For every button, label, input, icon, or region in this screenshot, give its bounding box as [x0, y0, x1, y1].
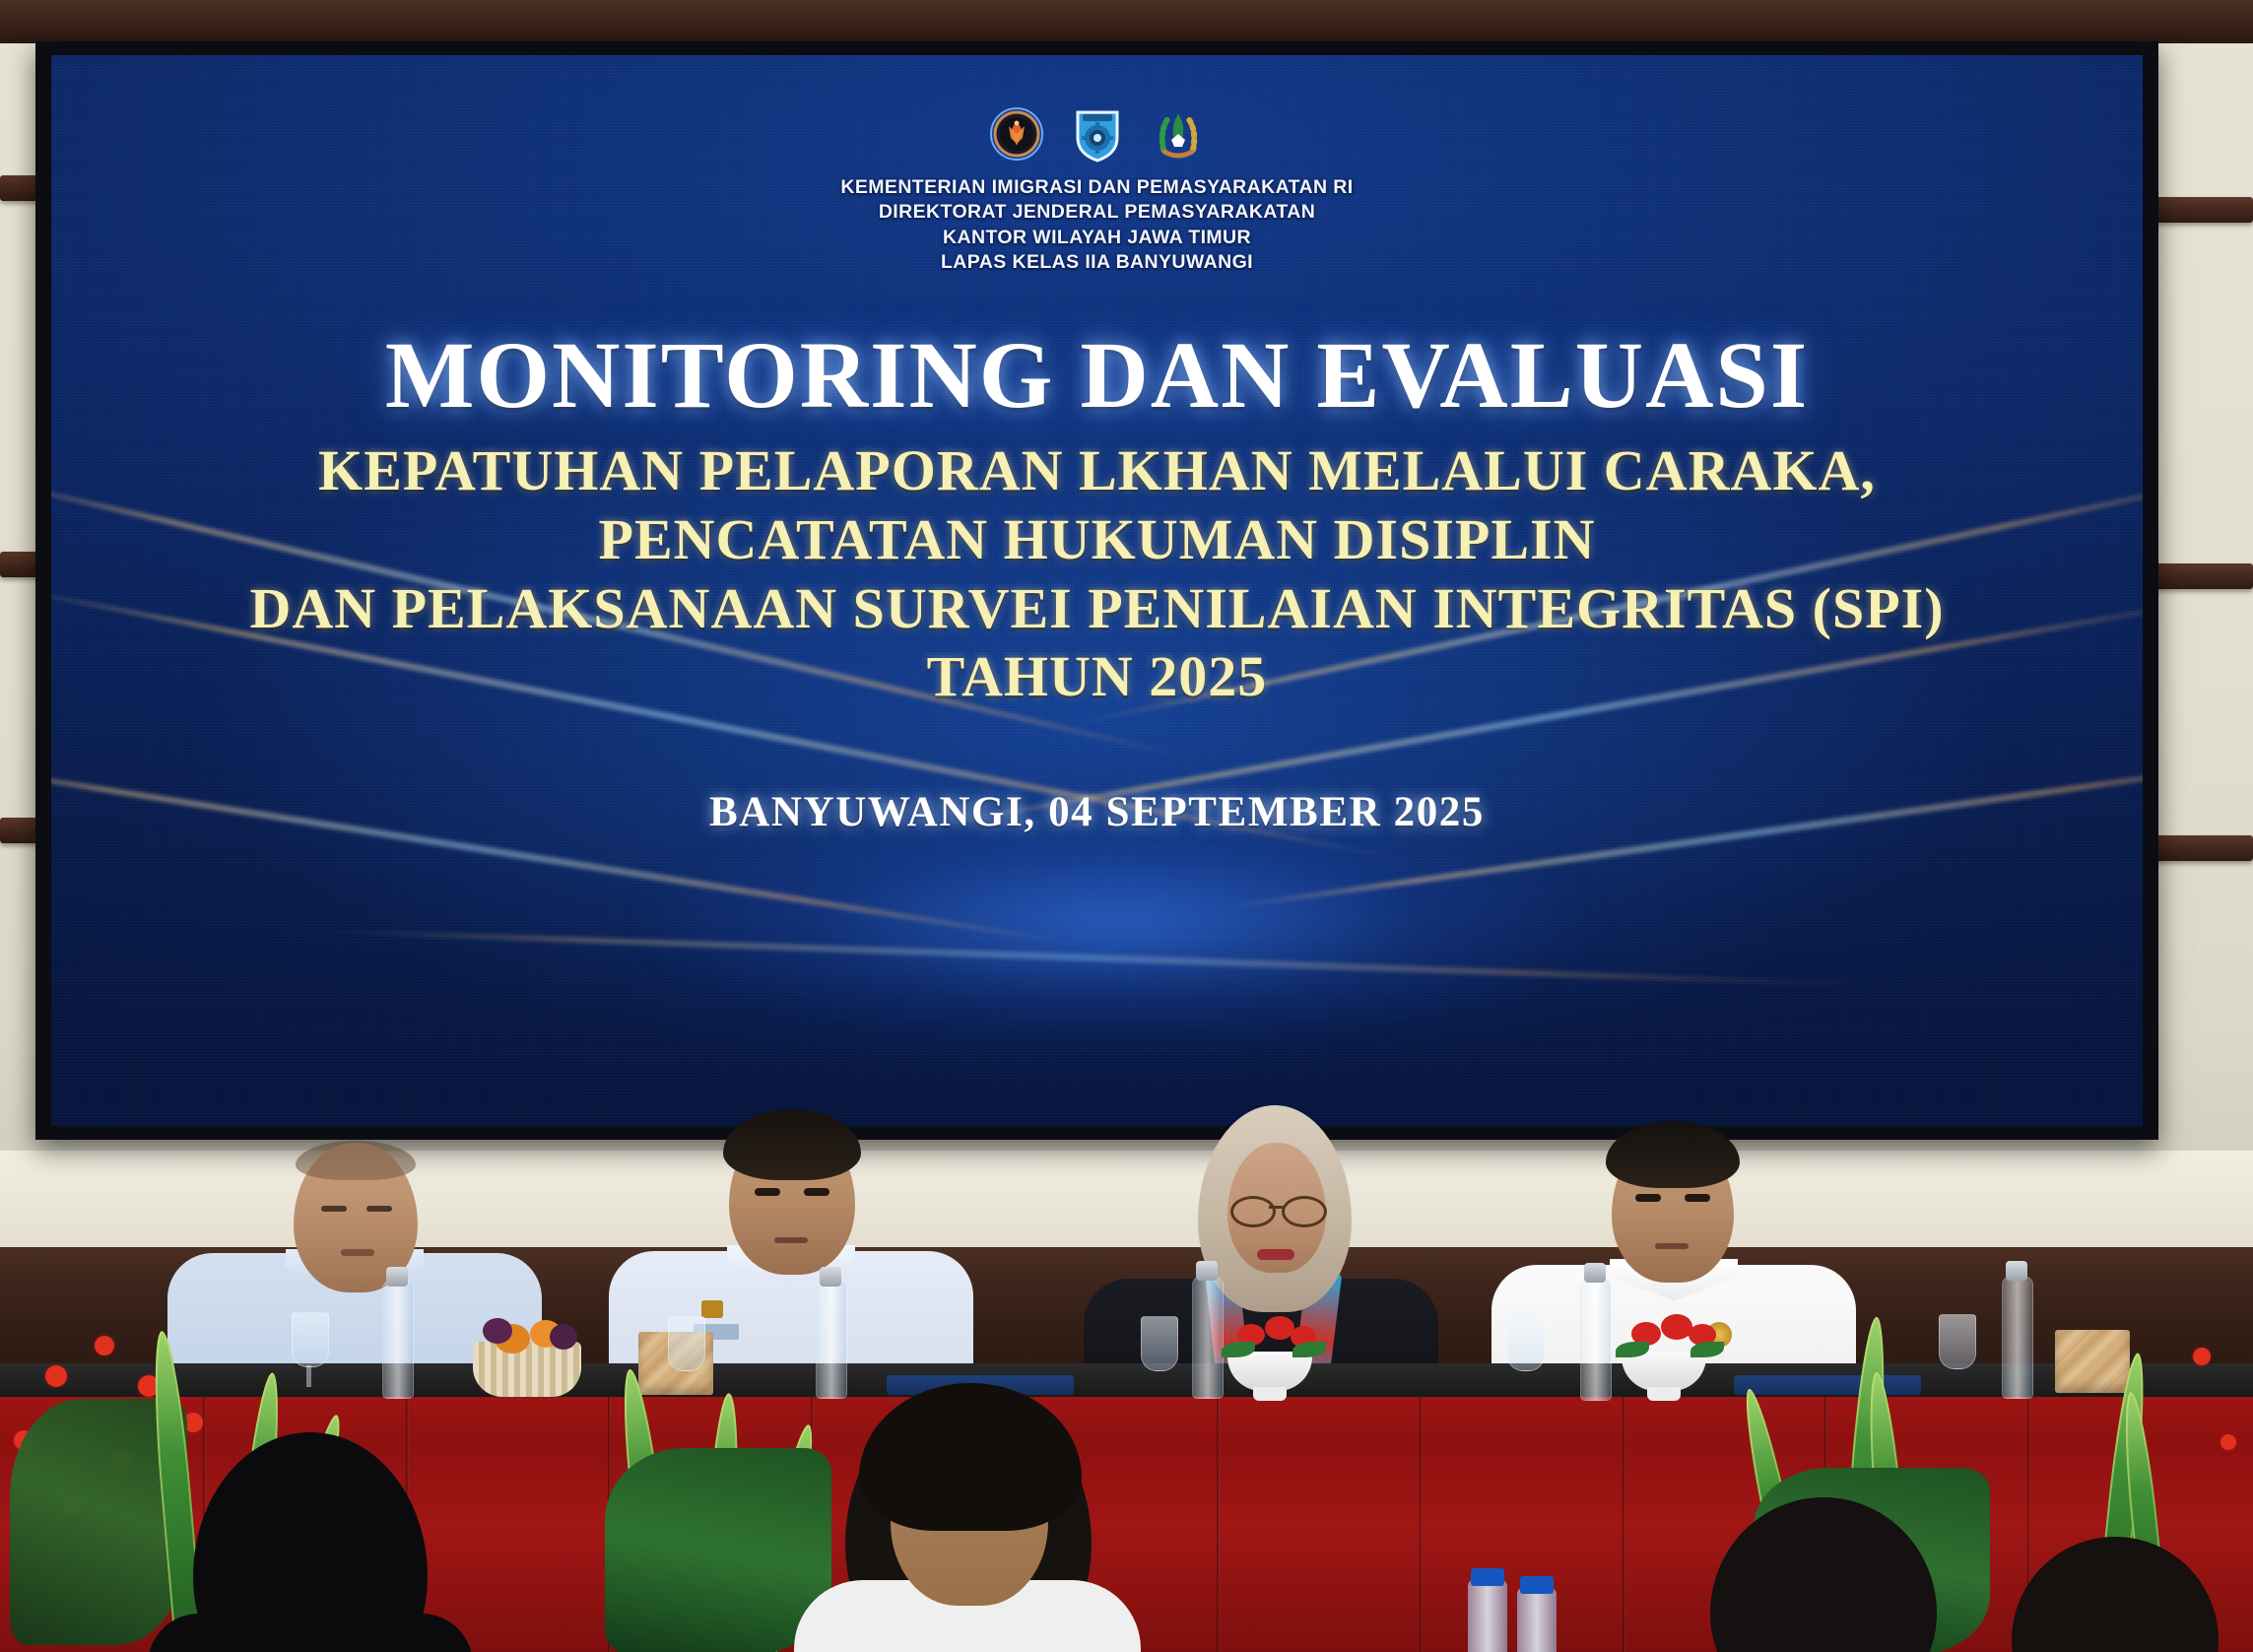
- subtitle-line-2: PENCATATAN HUKUMAN DISIPLIN: [249, 505, 1944, 574]
- water-bottle: [382, 1281, 414, 1399]
- conference-room-scene: KEMENTERIAN IMIGRASI DAN PEMASYARAKATAN …: [0, 0, 2253, 1652]
- audience-water-bottle: [1517, 1588, 1557, 1652]
- audience-bottle-cap: [1520, 1576, 1554, 1594]
- org-line-1: KEMENTERIAN IMIGRASI DAN PEMASYARAKATAN …: [840, 175, 1353, 200]
- panelist-2-mouth: [774, 1237, 808, 1243]
- fruit-grape: [483, 1318, 512, 1344]
- glass-stem: [306, 1365, 311, 1387]
- panelist-1-hair: [296, 1141, 416, 1180]
- microphone-head: [1196, 1261, 1218, 1281]
- water-glass: [1939, 1314, 1976, 1369]
- jawa-timur-logo: [1151, 104, 1206, 164]
- panelist-3-glasses-left: [1230, 1196, 1276, 1227]
- panelist-3-mouth: [1257, 1249, 1294, 1260]
- tissue-box: [2055, 1330, 2130, 1393]
- water-bottle: [816, 1281, 847, 1399]
- kemenimipas-logo: [989, 104, 1044, 164]
- panelist-2-eye-left: [755, 1188, 780, 1196]
- fruit-basket: [473, 1342, 581, 1397]
- org-line-3: KANTOR WILAYAH JAWA TIMUR: [840, 226, 1353, 250]
- microphone-stand: [1192, 1277, 1224, 1399]
- fruit-grape: [550, 1324, 577, 1350]
- panelist-2-eye-right: [804, 1188, 829, 1196]
- bottle-cap: [1584, 1263, 1606, 1283]
- audience-bottle-cap: [1471, 1568, 1504, 1586]
- bottle-cap: [2006, 1261, 2027, 1281]
- water-glass: [1141, 1316, 1178, 1371]
- panelist-4-eye-left: [1635, 1194, 1661, 1202]
- bottle-cap: [820, 1267, 841, 1287]
- serving-tray: [1734, 1375, 1921, 1395]
- presentation-screen: KEMENTERIAN IMIGRASI DAN PEMASYARAKATAN …: [51, 55, 2143, 1126]
- panelist-3-glasses-right: [1282, 1196, 1327, 1227]
- panelist-4-mouth: [1655, 1243, 1689, 1249]
- water-bottle: [1580, 1279, 1612, 1401]
- slide-content: KEMENTERIAN IMIGRASI DAN PEMASYARAKATAN …: [51, 55, 2143, 1126]
- panelist-1-eye-right: [366, 1206, 392, 1212]
- panelist-3-glasses-bridge: [1269, 1206, 1283, 1209]
- panelist-2-insignia: [701, 1300, 723, 1318]
- slide-subtitle: KEPATUHAN PELAPORAN LKHAN MELALUI CARAKA…: [249, 436, 1944, 710]
- slide-main-title: MONITORING DAN EVALUASI: [385, 328, 1809, 423]
- audience-water-bottle: [1468, 1580, 1507, 1652]
- org-line-4: LAPAS KELAS IIA BANYUWANGI: [840, 250, 1353, 275]
- panelist-1-mouth: [341, 1249, 374, 1256]
- org-line-2: DIREKTORAT JENDERAL PEMASYARAKATAN: [840, 200, 1353, 225]
- vase-foot: [1647, 1387, 1681, 1401]
- water-glass: [668, 1316, 705, 1371]
- ceiling-trim: [0, 0, 2253, 43]
- panelist-4-eye-right: [1685, 1194, 1710, 1202]
- panelist-4-hair: [1606, 1121, 1740, 1188]
- logo-row: [989, 104, 1206, 164]
- water-glass: [292, 1312, 329, 1367]
- led-screen-bezel: KEMENTERIAN IMIGRASI DAN PEMASYARAKATAN …: [35, 41, 2158, 1140]
- pemasyarakatan-logo: [1070, 104, 1125, 164]
- water-glass: [1507, 1316, 1545, 1371]
- bottle-cap: [386, 1267, 408, 1287]
- vase-foot: [1253, 1387, 1287, 1401]
- water-bottle: [2002, 1277, 2033, 1399]
- slide-date-location: BANYUWANGI, 04 SEPTEMBER 2025: [709, 788, 1485, 836]
- subtitle-line-4: TAHUN 2025: [249, 642, 1944, 711]
- subtitle-line-1: KEPATUHAN PELAPORAN LKHAN MELALUI CARAKA…: [249, 436, 1944, 505]
- panelist-1-eye-left: [321, 1206, 347, 1212]
- organization-header: KEMENTERIAN IMIGRASI DAN PEMASYARAKATAN …: [840, 175, 1353, 275]
- subtitle-line-3: DAN PELAKSANAAN SURVEI PENILAIAN INTEGRI…: [249, 574, 1944, 643]
